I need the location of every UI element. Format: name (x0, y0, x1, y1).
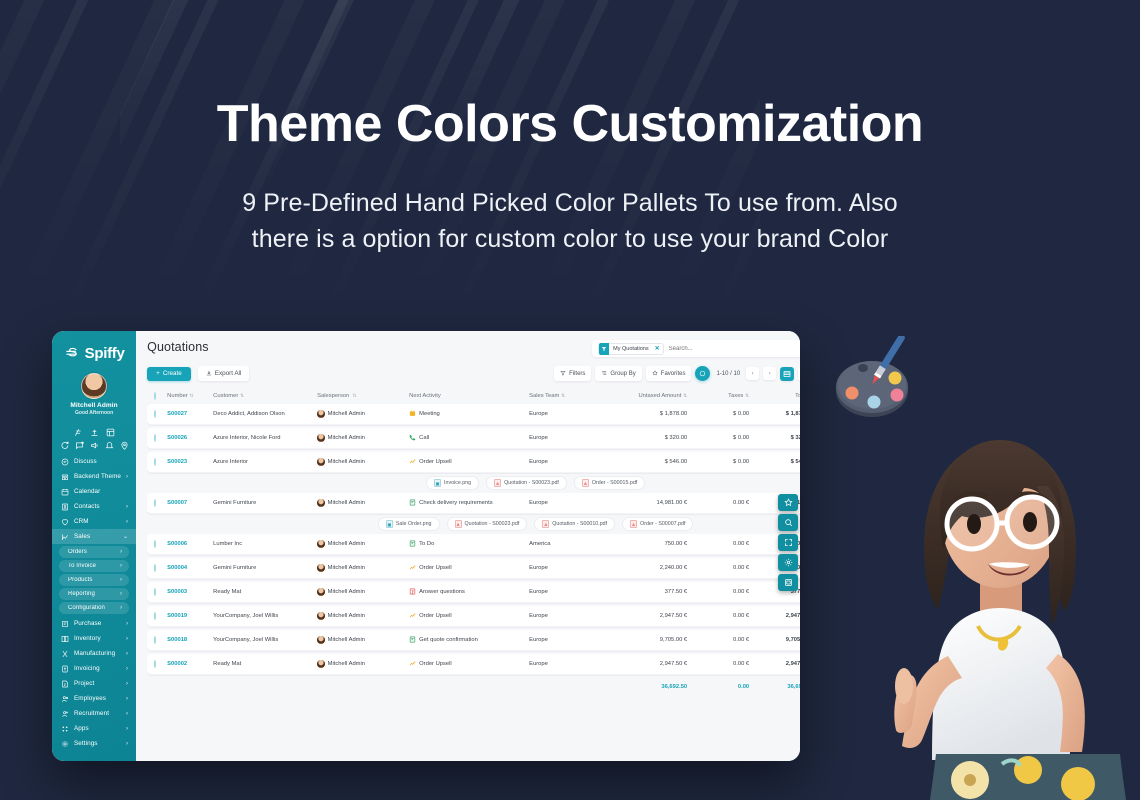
sales-icon (61, 533, 69, 541)
cell-number[interactable]: S00026 (167, 435, 213, 441)
cell-salesperson: Mitchell Admin (317, 410, 409, 418)
employees-icon (61, 695, 69, 703)
sidebar-item-label: Settings (74, 740, 121, 747)
cell-next-activity: Order Upsell (409, 612, 529, 621)
left-actions: + Create Export All (147, 366, 249, 381)
apps-icon (61, 725, 69, 733)
attachment-row: ▣Invoice.pngAQuotation - S00023.pdfAOrde… (147, 476, 800, 490)
note-icon (409, 540, 416, 549)
column-header-taxes[interactable]: Taxes ⇅ (687, 393, 749, 399)
cell-taxes: 0.00 € (687, 637, 749, 643)
hero-section: Theme Colors Customization 9 Pre-Defined… (0, 96, 1140, 258)
row-checkbox[interactable] (154, 589, 167, 595)
cell-salesperson: Mitchell Admin (317, 564, 409, 572)
settings-icon (61, 740, 69, 748)
list-view-button[interactable] (780, 367, 794, 381)
kanban-view-button[interactable] (798, 367, 800, 381)
chat-bubble-icon[interactable] (60, 437, 69, 446)
note-icon (409, 499, 416, 508)
chevron-right-icon: › (126, 621, 128, 627)
3d-woman-pointing-illustration (852, 418, 1140, 800)
phone-icon (409, 434, 416, 443)
pdf-file-icon: A (494, 479, 501, 487)
cell-untaxed-amount: 750.00 € (603, 541, 687, 547)
table-header-row: Number ⇅ Customer ⇅ Salesperson ⇅ Next A… (147, 389, 800, 402)
cell-taxes: 0.00 € (687, 541, 749, 547)
app-window-mockup: Spiffy Mitchell Admin Good Afternoon (52, 331, 800, 761)
cell-untaxed-amount: 2,240.00 € (603, 565, 687, 571)
sidebar-item-label: CRM (74, 518, 121, 525)
row-checkbox[interactable] (154, 500, 167, 506)
attachment-chip[interactable]: AQuotation - S00023.pdf (486, 476, 567, 490)
cell-next-activity: Order Upsell (409, 660, 529, 669)
attachment-label: Order - S00015.pdf (592, 480, 637, 486)
image-file-icon: ▣ (386, 520, 393, 528)
sidebar-item-invoicing[interactable]: Invoicing› (52, 661, 136, 676)
fullscreen-icon[interactable] (778, 534, 798, 551)
cell-salesperson: Mitchell Admin (317, 540, 409, 548)
attachment-chip[interactable]: AOrder - S00015.pdf (574, 476, 645, 490)
cell-untaxed-amount: $ 546.00 (603, 459, 687, 465)
sidebar-item-label: Sales (74, 533, 118, 540)
row-checkbox[interactable] (154, 565, 167, 571)
totals-total: 36,692.50 (749, 684, 800, 690)
cell-number[interactable]: S00018 (167, 637, 213, 643)
cell-customer: Gemini Furniture (213, 565, 317, 571)
pdf-file-icon: A (542, 520, 549, 528)
chevron-right-icon: › (126, 681, 128, 687)
cell-number[interactable]: S00003 (167, 589, 213, 595)
table-row[interactable]: S00018YourCompany, Joel WillisMitchell A… (147, 630, 800, 651)
chevron-right-icon: › (126, 519, 128, 525)
paint-palette-illustration (826, 336, 922, 428)
group-by-button[interactable]: Group By (595, 366, 641, 381)
sidebar-item-label: Purchase (74, 620, 121, 627)
select-all-checkbox[interactable] (154, 393, 167, 399)
chevron-right-icon: › (120, 549, 122, 555)
sidebar-item-label: Calendar (74, 488, 128, 495)
sidebar-item-label: Invoicing (74, 665, 121, 672)
cell-taxes: 0.00 € (687, 589, 749, 595)
search-input[interactable] (669, 346, 800, 352)
filter-icon (560, 370, 566, 378)
avatar (317, 540, 325, 548)
meeting-icon (409, 410, 416, 419)
hero-subtitle-line2: there is a option for custom color to us… (252, 225, 889, 253)
favorites-button[interactable]: Favorites (646, 366, 692, 381)
purchase-icon (61, 620, 69, 628)
attachment-chip[interactable]: AQuotation - S00010.pdf (534, 517, 615, 531)
cell-sales-team: Europe (529, 411, 603, 417)
cell-next-activity: Meeting (409, 410, 529, 419)
cell-customer: Deco Addict, Addison Olson (213, 411, 317, 417)
search-filter-chip[interactable]: My Quotations ✕ (598, 343, 664, 355)
create-button[interactable]: + Create (147, 367, 191, 381)
sidebar-item-label: Reporting (66, 591, 115, 597)
cell-total: 9,705.00 € (749, 637, 800, 643)
sidebar-item-label: Discuss (74, 458, 128, 465)
question-icon (409, 588, 416, 597)
cell-customer: Azure Interior (213, 459, 317, 465)
cell-untaxed-amount: 9,705.00 € (603, 637, 687, 643)
chart-up-icon (409, 660, 416, 669)
cell-number[interactable]: S00002 (167, 661, 213, 667)
cell-next-activity: Order Upsell (409, 458, 529, 467)
previous-page-button[interactable]: ‹ (746, 367, 759, 380)
note-icon (409, 636, 416, 645)
table-row[interactable]: S00007Gemini FurnitureMitchell AdminChec… (147, 493, 800, 514)
settings-gear-icon[interactable] (778, 554, 798, 571)
cell-next-activity: Answer questions (409, 588, 529, 597)
column-header-salesperson[interactable]: Salesperson ⇅ (317, 393, 409, 399)
theme-icon (61, 473, 69, 481)
cell-sales-team: Europe (529, 500, 603, 506)
right-actions: Filters Group By Favorites 1 (554, 366, 800, 381)
attachment-label: Order - S00007.pdf (640, 521, 685, 527)
cell-taxes: 0.00 € (687, 613, 749, 619)
chevron-right-icon: › (126, 696, 128, 702)
chevron-right-icon: › (126, 504, 128, 510)
attachment-label: Quotation - S00010.pdf (552, 521, 607, 527)
cell-salesperson: Mitchell Admin (317, 636, 409, 644)
filters-label: Filters (569, 371, 585, 377)
column-header-customer[interactable]: Customer ⇅ (213, 393, 317, 399)
sidebar-item-label: Recruitment (74, 710, 121, 717)
group-by-icon (601, 370, 607, 378)
sidebar-item-apps[interactable]: Apps› (52, 721, 136, 736)
row-checkbox[interactable] (154, 411, 167, 417)
cell-taxes: $ 0.00 (687, 459, 749, 465)
cell-sales-team: Europe (529, 613, 603, 619)
upload-icon[interactable] (90, 424, 99, 433)
attachment-row: ▣Sale Order.pngAQuotation - S00023.pdfAQ… (147, 517, 800, 531)
download-icon (206, 370, 212, 378)
calendar-icon (61, 488, 69, 496)
cell-taxes: 0.00 € (687, 661, 749, 667)
refresh-button[interactable] (695, 366, 710, 381)
sidebar-item-label: Inventory (74, 635, 121, 642)
bell-icon[interactable] (105, 437, 114, 446)
avatar (317, 434, 325, 442)
column-header-untaxed-amount[interactable]: Untaxed Amount ⇅ (603, 393, 687, 399)
action-toolbar: + Create Export All Filters (147, 366, 800, 381)
chevron-right-icon: › (120, 605, 122, 611)
manufacturing-icon (61, 650, 69, 658)
discuss-icon (61, 458, 69, 466)
chevron-right-icon: › (120, 591, 122, 597)
crm-icon (61, 518, 69, 526)
sidebar-item-label: Contacts (74, 503, 121, 510)
cell-taxes: $ 0.00 (687, 411, 749, 417)
cell-customer: Ready Mat (213, 661, 317, 667)
invoicing-icon (61, 665, 69, 673)
attachment-chip[interactable]: AOrder - S00007.pdf (622, 517, 693, 531)
cell-sales-team: Europe (529, 565, 603, 571)
avatar (317, 612, 325, 620)
cell-untaxed-amount: 377.50 € (603, 589, 687, 595)
pagination-label: 1-10 / 10 (714, 371, 742, 377)
attachment-label: Quotation - S00023.pdf (504, 480, 559, 486)
profile-name: Mitchell Admin (52, 402, 136, 409)
chevron-right-icon: › (126, 474, 128, 480)
sidebar-item-configuration[interactable]: Configuration› (59, 602, 129, 614)
cell-untaxed-amount: $ 320.00 (603, 435, 687, 441)
cell-salesperson: Mitchell Admin (317, 434, 409, 442)
table-row[interactable]: S00004Gemini FurnitureMitchell AdminOrde… (147, 558, 800, 579)
table-row[interactable]: S00006Lumber IncMitchell AdminTo DoAmeri… (147, 534, 800, 555)
pdf-file-icon: A (582, 479, 589, 487)
cell-sales-team: Europe (529, 589, 603, 595)
filter-chip-label: My Quotations (611, 346, 650, 352)
contacts-icon (61, 503, 69, 511)
sidebar-item-label: Manufacturing (74, 650, 121, 657)
chevron-right-icon: › (126, 726, 128, 732)
cell-sales-team: Europe (529, 459, 603, 465)
hero-subtitle: 9 Pre-Defined Hand Picked Color Pallets … (0, 185, 1140, 258)
app-sidebar: Spiffy Mitchell Admin Good Afternoon (52, 331, 136, 761)
cell-sales-team: Europe (529, 661, 603, 667)
column-header-total[interactable]: Total ⇅ (749, 393, 800, 399)
cell-total: $ 1,878.00 (749, 411, 800, 417)
pdf-file-icon: A (455, 520, 462, 528)
chart-up-icon (409, 458, 416, 467)
cell-customer: Gemini Furniture (213, 500, 317, 506)
image-file-icon: ▣ (434, 479, 441, 487)
avatar (317, 660, 325, 668)
cell-customer: YourCompany, Joel Willis (213, 613, 317, 619)
sidebar-item-discuss[interactable]: Discuss (52, 454, 136, 469)
cell-next-activity: To Do (409, 540, 529, 549)
chevron-right-icon: › (126, 651, 128, 657)
cell-total: 2,947.50 € (749, 613, 800, 619)
table-row[interactable]: S00019YourCompany, Joel WillisMitchell A… (147, 606, 800, 627)
sidebar-item-sales[interactable]: Sales⌄ (52, 529, 136, 544)
cell-untaxed-amount: 2,947.50 € (603, 661, 687, 667)
table-row[interactable]: S00026Azure Interior, Nicole FordMitchel… (147, 428, 800, 449)
attachment-chip[interactable]: ▣Invoice.png (426, 476, 479, 490)
cell-number[interactable]: S00004 (167, 565, 213, 571)
sidebar-item-purchase[interactable]: Purchase› (52, 616, 136, 631)
plus-icon: + (156, 370, 160, 377)
chevron-right-icon: › (120, 563, 122, 569)
sidebar-item-settings[interactable]: Settings› (52, 736, 136, 751)
sidebar-item-inventory[interactable]: Inventory› (52, 631, 136, 646)
sidebar-item-label: Products (66, 577, 115, 583)
attachment-label: Invoice.png (444, 480, 471, 486)
filters-button[interactable]: Filters (554, 366, 591, 381)
project-icon (61, 680, 69, 688)
table-row[interactable]: S00023Azure InteriorMitchell AdminOrder … (147, 452, 800, 473)
attachment-chip[interactable]: AQuotation - S00023.pdf (447, 517, 528, 531)
row-checkbox[interactable] (154, 435, 167, 441)
cell-customer: YourCompany, Joel Willis (213, 637, 317, 643)
favorites-label: Favorites (661, 371, 686, 377)
profile-greeting: Good Afternoon (52, 410, 136, 416)
brand-name: Spiffy (85, 345, 125, 362)
location-pin-icon[interactable] (120, 437, 129, 446)
sidebar-item-recruitment[interactable]: Recruitment› (52, 706, 136, 721)
recruitment-icon (61, 710, 69, 718)
page-title: Theme Colors Customization (0, 96, 1140, 153)
cell-next-activity: Check delivery requirements (409, 499, 529, 508)
hero-subtitle-line1: 9 Pre-Defined Hand Picked Color Pallets … (242, 189, 898, 217)
sidebar-item-contacts[interactable]: Contacts› (52, 499, 136, 514)
quick-icons-row-1 (52, 420, 136, 433)
apps-grid-icon[interactable] (106, 424, 115, 433)
star-icon[interactable] (778, 494, 798, 511)
cell-number[interactable]: S00006 (167, 541, 213, 547)
sidebar-item-label: Apps (74, 725, 121, 732)
cell-next-activity: Get quote confirmation (409, 636, 529, 645)
chevron-right-icon: › (126, 711, 128, 717)
table-row[interactable]: S00003Ready MatMitchell AdminAnswer ques… (147, 582, 800, 603)
attachment-label: Quotation - S00023.pdf (465, 521, 520, 527)
sidebar-item-products[interactable]: Products› (59, 574, 129, 586)
star-icon (652, 370, 658, 378)
sidebar-item-label: Backend Theme (74, 473, 121, 480)
cell-sales-team: Europe (529, 435, 603, 441)
column-header-sales-team[interactable]: Sales Team ⇅ (529, 393, 603, 399)
totals-taxes: 0.00 (687, 684, 749, 690)
table-totals-row: 36,692.50 0.00 36,692.50 (147, 678, 800, 696)
cell-customer: Azure Interior, Nicole Ford (213, 435, 317, 441)
cell-taxes: $ 0.00 (687, 435, 749, 441)
close-icon[interactable]: ✕ (653, 345, 660, 352)
cell-number[interactable]: S00027 (167, 411, 213, 417)
column-header-number[interactable]: Number ⇅ (167, 393, 213, 399)
cell-number[interactable]: S00007 (167, 500, 213, 506)
avatar (317, 458, 325, 466)
cell-salesperson: Mitchell Admin (317, 588, 409, 596)
row-checkbox[interactable] (154, 613, 167, 619)
sidebar-item-manufacturing[interactable]: Manufacturing› (52, 646, 136, 661)
pdf-file-icon: A (630, 520, 637, 528)
table-row[interactable]: S00002Ready MatMitchell AdminOrder Upsel… (147, 654, 800, 675)
avatar (317, 564, 325, 572)
sidebar-item-label: Employees (74, 695, 121, 702)
row-checkbox[interactable] (154, 661, 167, 667)
row-checkbox[interactable] (154, 541, 167, 547)
row-checkbox[interactable] (154, 459, 167, 465)
group-by-label: Group By (610, 371, 635, 377)
cell-next-activity: Order Upsell (409, 564, 529, 573)
sidebar-item-backend-theme[interactable]: Backend Theme› (52, 469, 136, 484)
create-button-label: Create (163, 370, 182, 377)
search-icon[interactable] (778, 514, 798, 531)
cell-sales-team: Europe (529, 637, 603, 643)
search-bar[interactable]: My Quotations ✕ (592, 340, 800, 357)
cell-customer: Ready Mat (213, 589, 317, 595)
sidebar-item-project[interactable]: Project› (52, 676, 136, 691)
cell-sales-team: America (529, 541, 603, 547)
cell-salesperson: Mitchell Admin (317, 458, 409, 466)
column-header-next-activity[interactable]: Next Activity (409, 393, 529, 399)
avatar (317, 636, 325, 644)
table-row[interactable]: S00027Deco Addict, Addison OlsonMitchell… (147, 404, 800, 425)
cell-number[interactable]: S00023 (167, 459, 213, 465)
chevron-right-icon: › (120, 577, 122, 583)
filter-funnel-icon (599, 343, 609, 355)
attachment-label: Sale Order.png (396, 521, 432, 527)
sidebar-item-orders[interactable]: Orders› (59, 546, 129, 558)
megaphone-icon[interactable] (90, 437, 99, 446)
cell-number[interactable]: S00019 (167, 613, 213, 619)
message-icon[interactable] (75, 437, 84, 446)
avatar (317, 499, 325, 507)
cell-total: $ 320.00 (749, 435, 800, 441)
content-topbar: Quotations My Quotations ✕ (147, 340, 800, 357)
cell-untaxed-amount: $ 1,878.00 (603, 411, 687, 417)
cell-salesperson: Mitchell Admin (317, 660, 409, 668)
totals-untaxed: 36,692.50 (603, 684, 687, 690)
floating-toolbar (778, 494, 798, 591)
avatar (81, 373, 107, 399)
export-all-label: Export All (215, 370, 242, 377)
avatar (317, 410, 325, 418)
cell-taxes: 0.00 € (687, 565, 749, 571)
sidebar-item-label: Project (74, 680, 121, 687)
spiffy-logo-icon (64, 345, 81, 362)
attachment-chip[interactable]: ▣Sale Order.png (378, 517, 440, 531)
avatar (317, 588, 325, 596)
chart-up-icon (409, 612, 416, 621)
sidebar-item-label: To Invoice (66, 563, 115, 569)
cell-untaxed-amount: 14,981.00 € (603, 500, 687, 506)
content-page-title: Quotations (147, 340, 208, 354)
sidebar-menu: DiscussBackend Theme›CalendarContacts›CR… (52, 454, 136, 761)
cell-salesperson: Mitchell Admin (317, 612, 409, 620)
cell-total: $ 546.00 (749, 459, 800, 465)
cell-total: 2,947.50 € (749, 661, 800, 667)
sidebar-item-employees[interactable]: Employees› (52, 691, 136, 706)
sidebar-item-reporting[interactable]: Reporting› (59, 588, 129, 600)
chart-up-icon (409, 564, 416, 573)
sidebar-item-calendar[interactable]: Calendar (52, 484, 136, 499)
next-page-button[interactable]: › (763, 367, 776, 380)
cell-untaxed-amount: 2,947.50 € (603, 613, 687, 619)
chevron-right-icon: › (126, 741, 128, 747)
cell-salesperson: Mitchell Admin (317, 499, 409, 507)
cell-taxes: 0.00 € (687, 500, 749, 506)
export-all-button[interactable]: Export All (198, 366, 250, 381)
sidebar-item-label: Configuration (66, 605, 115, 611)
app-content: Quotations My Quotations ✕ + (136, 331, 800, 761)
user-profile[interactable]: Mitchell Admin Good Afternoon (52, 370, 136, 420)
inventory-icon (61, 635, 69, 643)
cell-next-activity: Call (409, 434, 529, 443)
activity-icon[interactable] (74, 424, 83, 433)
chevron-down-icon: ⌄ (123, 533, 128, 540)
sidebar-item-crm[interactable]: CRM› (52, 514, 136, 529)
sidebar-item-to-invoice[interactable]: To Invoice› (59, 560, 129, 572)
chevron-right-icon: › (126, 636, 128, 642)
brand-logo[interactable]: Spiffy (52, 341, 136, 370)
cell-customer: Lumber Inc (213, 541, 317, 547)
row-checkbox[interactable] (154, 637, 167, 643)
table-body: S00027Deco Addict, Addison OlsonMitchell… (147, 404, 800, 675)
panel-icon[interactable] (778, 574, 798, 591)
chevron-right-icon: › (126, 666, 128, 672)
sidebar-item-label: Orders (66, 549, 115, 555)
